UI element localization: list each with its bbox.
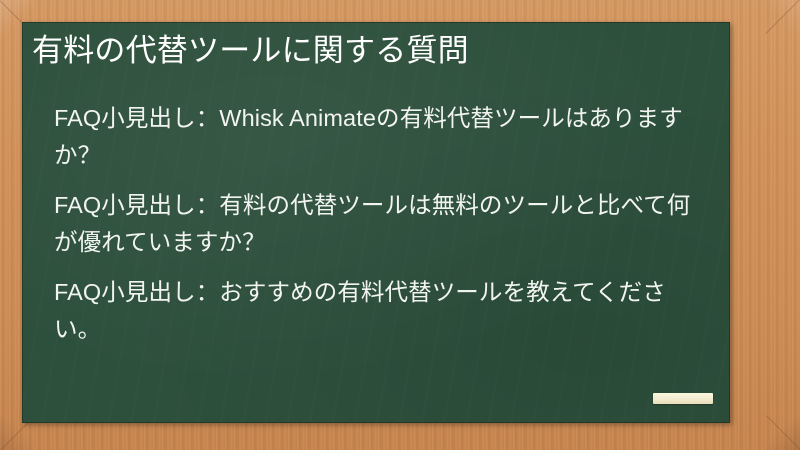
- frame-miter-line-bottom-right: [766, 415, 800, 450]
- frame-miter-line-top-right: [765, 0, 800, 34]
- faq-question-list: FAQ小見出し：Whisk Animateの有料代替ツールはありますか？ FAQ…: [54, 100, 704, 348]
- list-item: FAQ小見出し：Whisk Animateの有料代替ツールはありますか？: [54, 100, 704, 174]
- page-title: 有料の代替ツールに関する質問: [32, 30, 720, 72]
- list-item: FAQ小見出し：有料の代替ツールは無料のツールと比べて何が優れていますか？: [54, 187, 704, 261]
- slide-canvas: 有料の代替ツールに関する質問 FAQ小見出し：Whisk Animateの有料代…: [0, 0, 800, 450]
- chalkboard-surface: 有料の代替ツールに関する質問 FAQ小見出し：Whisk Animateの有料代…: [22, 22, 730, 423]
- list-item: FAQ小見出し：おすすめの有料代替ツールを教えてください。: [54, 274, 704, 348]
- chalk-stick-icon: [653, 393, 713, 404]
